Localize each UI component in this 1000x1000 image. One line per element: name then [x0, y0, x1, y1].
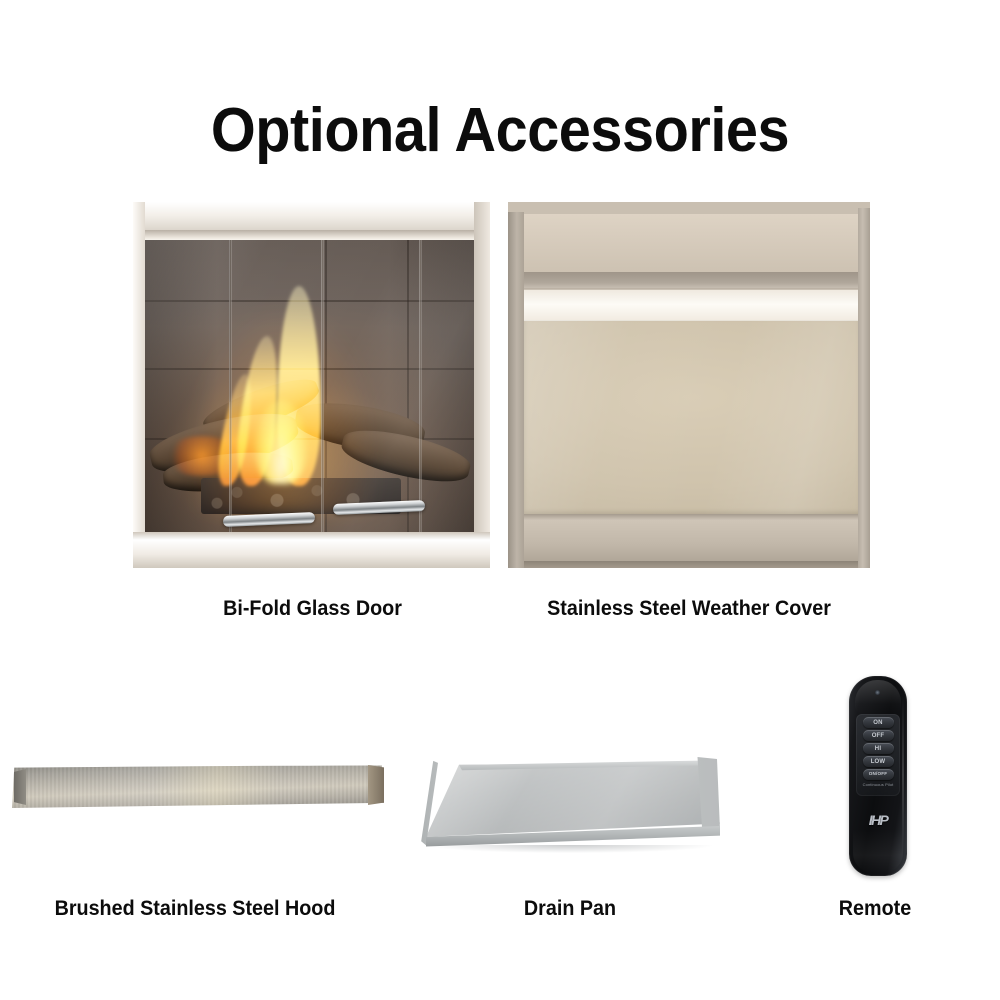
remote-edge-highlight — [902, 696, 904, 854]
remote-top-sheen — [855, 680, 901, 714]
door-mullion — [321, 236, 324, 534]
weather-cover-bottom-panel — [520, 520, 860, 562]
remote-button-off[interactable]: OFF — [863, 730, 894, 741]
remote-led-icon — [875, 690, 880, 695]
accessory-image-bi-fold-glass-door — [133, 202, 490, 568]
remote-body: ON OFF HI LOW ON/OFF Continuous Pilot IH… — [849, 676, 907, 876]
accessory-image-remote: ON OFF HI LOW ON/OFF Continuous Pilot IH… — [849, 676, 907, 876]
caption-brushed-stainless-steel-hood: Brushed Stainless Steel Hood — [21, 898, 369, 919]
weather-cover-bottom-edge — [520, 561, 860, 568]
fireplace-frame-top — [133, 202, 490, 232]
door-mullion — [229, 236, 232, 534]
remote-brand-logo: IHP — [849, 812, 907, 828]
remote-button-on-off[interactable]: ON/OFF — [863, 769, 894, 780]
accessories-page: Optional Accessories — [0, 0, 1000, 1000]
caption-remote: Remote — [767, 898, 983, 919]
caption-drain-pan: Drain Pan — [429, 898, 711, 919]
weather-cover-top-panel — [522, 214, 858, 272]
caption-bi-fold-glass-door: Bi-Fold Glass Door — [146, 598, 480, 619]
fireplace-frame-bottom — [133, 532, 490, 568]
caption-stainless-steel-weather-cover: Stainless Steel Weather Cover — [519, 598, 859, 619]
weather-cover-left-post — [508, 212, 524, 568]
weather-cover-sheen — [524, 320, 860, 514]
remote-button-on[interactable]: ON — [863, 717, 894, 728]
remote-button-low[interactable]: LOW — [863, 756, 894, 767]
accessory-image-brushed-stainless-steel-hood — [12, 757, 384, 812]
drain-pan-shadow — [428, 845, 712, 853]
hood-left-end — [14, 769, 26, 805]
door-mullion — [419, 236, 422, 534]
fireplace-lintel — [133, 230, 490, 240]
hood-sheen — [12, 765, 384, 808]
fireplace-frame-right — [474, 202, 490, 568]
remote-continuous-pilot-label: Continuous Pilot — [863, 783, 894, 787]
hood-right-end — [368, 765, 384, 805]
remote-button-hi[interactable]: HI — [863, 743, 894, 754]
page-title: Optional Accessories — [35, 100, 965, 162]
weather-cover-highlight-band — [518, 290, 862, 320]
firebox-interior — [145, 240, 474, 532]
accessory-image-stainless-steel-weather-cover — [508, 202, 870, 568]
remote-bottom-sheen — [853, 829, 903, 873]
weather-cover-right-post — [858, 208, 870, 568]
fireplace-frame-left — [133, 202, 145, 568]
accessory-image-drain-pan — [420, 757, 720, 857]
remote-keypad: ON OFF HI LOW ON/OFF Continuous Pilot — [856, 714, 900, 796]
weather-cover-main-panel — [524, 320, 860, 514]
